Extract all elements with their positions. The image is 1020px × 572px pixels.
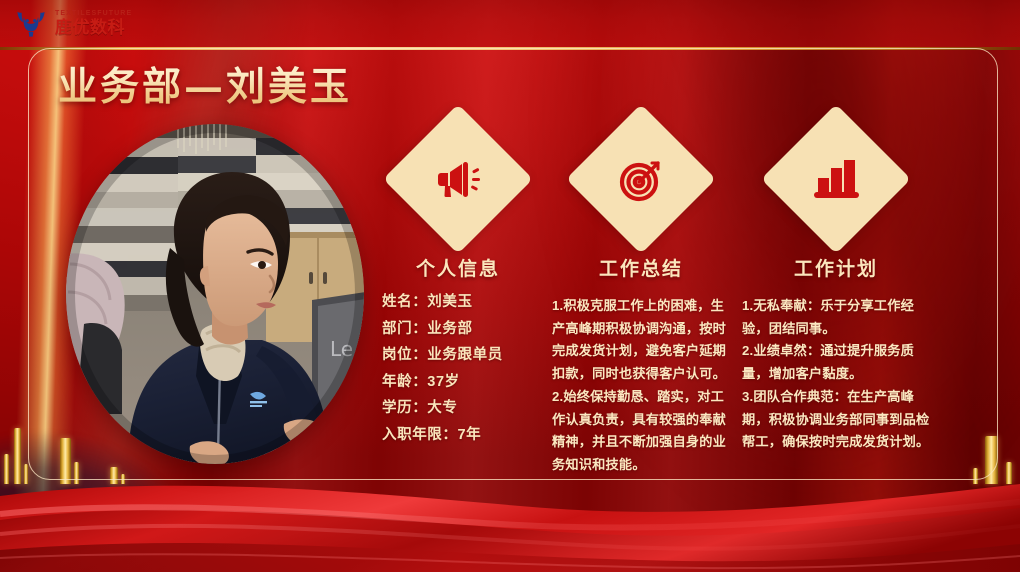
bull-head-logo-icon [14,6,48,40]
info-row-edu: 学历：大专 [382,401,538,416]
megaphone-icon [431,152,485,206]
bottom-silk-ribbon [0,462,1020,572]
section-work-summary: 工作总结 1.积极克服工作上的困难，生产高峰期积极协调沟通，按时完成发货计划，避… [552,126,730,477]
brand-chinese-name: 鹿优数科 [55,19,132,36]
section-icon-diamond-2 [566,104,716,254]
info-row-name: 姓名：刘美玉 [382,295,538,310]
info-row-dept: 部门：业务部 [382,322,538,337]
brand-logo[interactable]: TEXTILESFUTURE 鹿优数科 [14,6,132,40]
work-plan-item-2: 2.业绩卓然：通过提升服务质量，增加客户黏度。 [742,340,930,385]
employee-photo: Le [66,124,364,464]
section-icon-diamond-1 [383,104,533,254]
section-personal-info: 个人信息 姓名：刘美玉 部门：业务部 岗位：业务跟单员 年龄：37岁 学历：大专… [378,126,538,454]
section-title-2: 工作总结 [552,254,730,281]
work-summary-item-2: 2.始终保持勤恳、踏实，对工作认真负责，具有较强的奉献精神，并且不断加强自身的业… [552,386,730,477]
info-row-tenure: 入职年限：7年 [382,428,538,443]
work-plan-body: 1.无私奉献：乐于分享工作经验，团结同事。 2.业绩卓然：通过提升服务质量，增加… [742,295,930,454]
info-row-post: 岗位：业务跟单员 [382,348,538,363]
page-title: 业务部—刘美玉 [58,56,352,112]
section-title-1: 个人信息 [378,254,538,281]
presentation-slide: TEXTILESFUTURE 鹿优数科 业务部—刘美玉 [0,0,1020,572]
info-row-age: 年龄：37岁 [382,375,538,390]
gold-divider-line [0,47,1020,50]
personal-info-list: 姓名：刘美玉 部门：业务部 岗位：业务跟单员 年龄：37岁 学历：大专 入职年限… [378,295,538,442]
section-title-3: 工作计划 [742,254,930,281]
target-bullseye-icon [614,152,668,206]
work-plan-item-1: 1.无私奉献：乐于分享工作经验，团结同事。 [742,295,930,340]
work-summary-body: 1.积极克服工作上的困难，生产高峰期积极协调沟通，按时完成发货计划，避免客户延期… [552,295,730,477]
section-icon-diamond-3 [761,104,911,254]
background-top-band [0,0,1020,48]
brand-english-name: TEXTILESFUTURE [55,10,132,17]
work-plan-item-3: 3.团队合作典范：在生产高峰期，积极协调业务部同事到品检帮工，确保按时完成发货计… [742,386,930,454]
section-work-plan: 工作计划 1.无私奉献：乐于分享工作经验，团结同事。 2.业绩卓然：通过提升服务… [742,126,930,454]
work-summary-item-1: 1.积极克服工作上的困难，生产高峰期积极协调沟通，按时完成发货计划，避免客户延期… [552,295,730,386]
bar-chart-icon [809,152,863,206]
